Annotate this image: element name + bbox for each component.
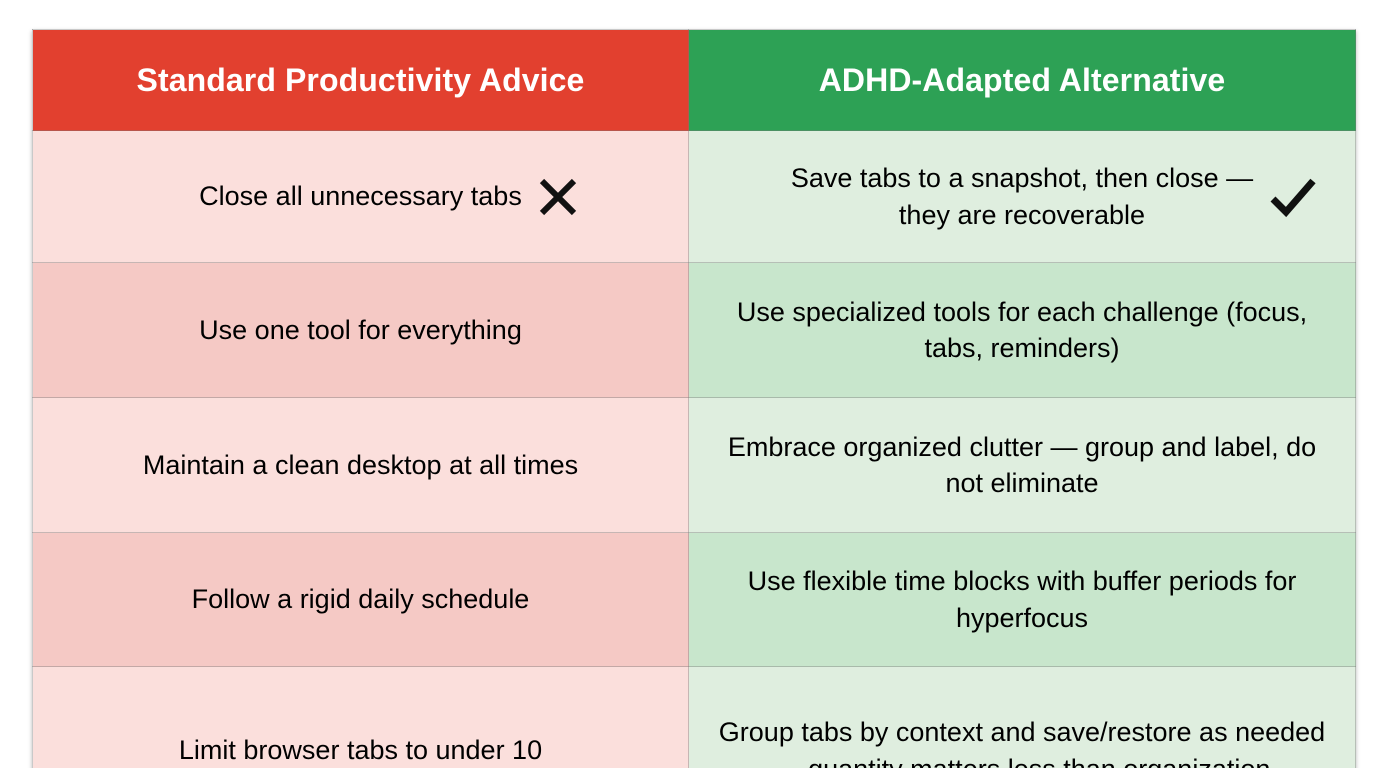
adhd-alternative-text: Use specialized tools for each challenge… [715, 294, 1329, 366]
table-row: Close all unnecessary tabs Save tabs to … [33, 131, 1356, 263]
table-header: Standard Productivity Advice ADHD-Adapte… [33, 30, 1356, 131]
standard-advice-text: Close all unnecessary tabs [199, 178, 522, 214]
adhd-alternative-text: Embrace organized clutter — group and la… [715, 429, 1329, 501]
cell-adhd-alternative: Use specialized tools for each challenge… [689, 263, 1356, 398]
standard-advice-text: Limit browser tabs to under 10 [179, 732, 542, 768]
cell-adhd-alternative: Use flexible time blocks with buffer per… [689, 533, 1356, 667]
table-row: Use one tool for everything Use speciali… [33, 263, 1356, 398]
productivity-comparison-table: Standard Productivity Advice ADHD-Adapte… [32, 29, 1356, 768]
standard-advice-text: Use one tool for everything [199, 312, 522, 348]
cell-standard-advice: Limit browser tabs to under 10 [33, 667, 689, 768]
adhd-alternative-text: Use flexible time blocks with buffer per… [715, 563, 1329, 635]
adhd-alternative-text: Group tabs by context and save/restore a… [715, 714, 1329, 768]
table-row: Maintain a clean desktop at all times Em… [33, 398, 1356, 533]
cross-icon [522, 174, 594, 220]
table-row: Limit browser tabs to under 10 Group tab… [33, 667, 1356, 768]
adhd-alternative-text: Save tabs to a snapshot, then close — th… [787, 160, 1257, 232]
header-row: Standard Productivity Advice ADHD-Adapte… [33, 30, 1356, 131]
cell-adhd-alternative: Group tabs by context and save/restore a… [689, 667, 1356, 768]
column-header-adhd-adapted-alternative: ADHD-Adapted Alternative [689, 30, 1356, 131]
cell-adhd-alternative: Save tabs to a snapshot, then close — th… [689, 131, 1356, 263]
table-row: Follow a rigid daily schedule Use flexib… [33, 533, 1356, 667]
table-body: Close all unnecessary tabs Save tabs to … [33, 131, 1356, 768]
standard-advice-text: Follow a rigid daily schedule [192, 581, 530, 617]
cell-adhd-alternative: Embrace organized clutter — group and la… [689, 398, 1356, 533]
page-root: Standard Productivity Advice ADHD-Adapte… [0, 0, 1376, 768]
standard-advice-text: Maintain a clean desktop at all times [143, 447, 578, 483]
column-header-standard-productivity-advice: Standard Productivity Advice [33, 30, 689, 131]
cell-standard-advice: Maintain a clean desktop at all times [33, 398, 689, 533]
cell-standard-advice: Close all unnecessary tabs [33, 131, 689, 263]
cell-standard-advice: Follow a rigid daily schedule [33, 533, 689, 667]
cell-standard-advice: Use one tool for everything [33, 263, 689, 398]
check-icon [1257, 174, 1329, 220]
